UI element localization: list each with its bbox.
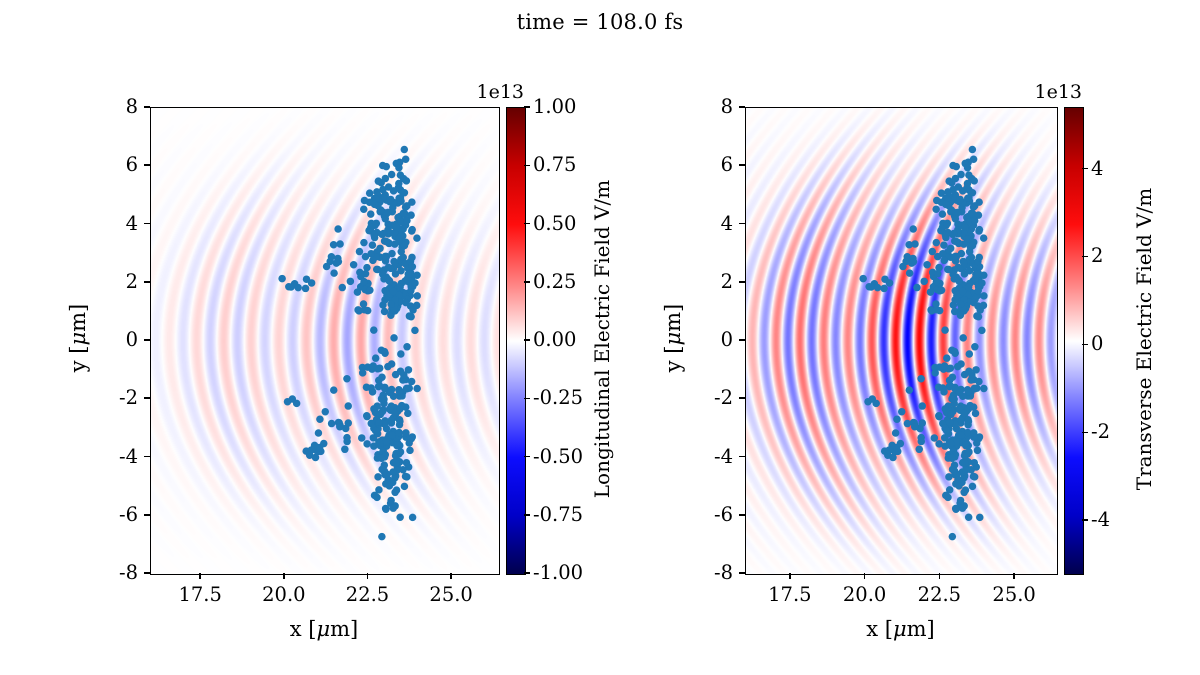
x-tickmark <box>939 573 941 579</box>
x-tickmark <box>1013 573 1015 579</box>
y-tickmark <box>739 397 745 399</box>
x-tickmark <box>367 573 369 579</box>
colorbar-transverse[interactable] <box>1064 107 1084 575</box>
x-tickmark <box>283 573 285 579</box>
y-tickmark <box>739 339 745 341</box>
colorbar-tick-label: -2 <box>1091 420 1110 443</box>
colorbar-tick-label: -1.00 <box>533 561 583 584</box>
y-tick-label: 8 <box>84 95 138 118</box>
x-tick-label: 25.0 <box>406 583 496 606</box>
y-tickmark <box>144 397 150 399</box>
colorbar-label-transverse: Transverse Electric Field V/m <box>1132 106 1156 572</box>
y-tick-label: 6 <box>679 153 733 176</box>
y-tick-label: 4 <box>84 212 138 235</box>
particle-scatter-longitudinal <box>151 108 499 574</box>
y-tick-label: 6 <box>84 153 138 176</box>
colorbar-offset-transverse: 1e13 <box>994 81 1082 103</box>
y-tick-label: 4 <box>679 212 733 235</box>
colorbar-tick-label: 0.25 <box>533 270 576 293</box>
colorbar-offset-longitudinal: 1e13 <box>436 81 524 103</box>
y-tickmark <box>144 572 150 574</box>
x-tick-label: 20.0 <box>239 583 329 606</box>
figure-canvas: time = 108.0 fs 86420-2-4-6-8 17.520.022… <box>0 0 1200 675</box>
colorbar-tick-label: 0.00 <box>533 328 576 351</box>
y-tickmark <box>144 106 150 108</box>
colorbar-tick-label: 0.50 <box>533 212 576 235</box>
colorbar-tick-label: -0.50 <box>533 445 583 468</box>
x-tick-label: 17.5 <box>155 583 245 606</box>
colorbar-tickmark <box>524 165 530 167</box>
x-tick-label: 22.5 <box>323 583 413 606</box>
colorbar-tick-label: 2 <box>1091 244 1103 267</box>
y-tickmark <box>739 514 745 516</box>
x-axis-title: x [μm] <box>150 617 498 641</box>
colorbar-tick-label: 1.00 <box>533 95 576 118</box>
colorbar-tick-label: 0.75 <box>533 153 576 176</box>
colorbar-tickmark <box>524 281 530 283</box>
colorbar-tickmark <box>524 456 530 458</box>
colorbar-tick-label: -4 <box>1091 508 1110 531</box>
y-tickmark <box>739 572 745 574</box>
y-tickmark <box>144 281 150 283</box>
y-tickmark <box>144 514 150 516</box>
y-tick-label: -4 <box>679 445 733 468</box>
y-tickmark <box>144 456 150 458</box>
y-tick-label: -8 <box>84 561 138 584</box>
colorbar-tickmark <box>524 223 530 225</box>
y-tickmark <box>739 223 745 225</box>
y-tick-label: -6 <box>679 503 733 526</box>
colorbar-label-longitudinal: Longitudinal Electric Field V/m <box>590 106 614 572</box>
y-tick-label: 0 <box>84 328 138 351</box>
colorbar-tickmark <box>1082 432 1088 434</box>
colorbar-tickmark <box>524 106 530 108</box>
particle-scatter-transverse <box>746 108 1057 574</box>
colorbar-tickmark <box>524 398 530 400</box>
y-tick-label: 0 <box>679 328 733 351</box>
colorbar-tick-label: -0.25 <box>533 386 583 409</box>
x-tickmark <box>450 573 452 579</box>
y-tickmark <box>144 164 150 166</box>
x-tickmark <box>864 573 866 579</box>
y-tick-label: -6 <box>84 503 138 526</box>
colorbar-gradient-longitudinal <box>507 108 525 574</box>
colorbar-tickmark <box>1082 344 1088 346</box>
axes-transverse[interactable] <box>745 107 1058 575</box>
colorbar-tick-label: 0 <box>1091 332 1103 355</box>
figure-title: time = 108.0 fs <box>0 10 1200 34</box>
y-tickmark <box>144 223 150 225</box>
colorbar-longitudinal[interactable] <box>506 107 526 575</box>
colorbar-tick-label: 4 <box>1091 157 1103 180</box>
x-tickmark <box>199 573 201 579</box>
x-axis-title: x [μm] <box>745 617 1056 641</box>
y-tick-label: 8 <box>679 95 733 118</box>
y-axis-title: y [μm] <box>661 278 685 398</box>
y-tickmark <box>739 164 745 166</box>
y-tickmark <box>144 339 150 341</box>
y-tickmark <box>739 456 745 458</box>
colorbar-tickmark <box>524 339 530 341</box>
colorbar-tickmark <box>524 514 530 516</box>
y-tick-label: 2 <box>84 270 138 293</box>
y-tick-label: -4 <box>84 445 138 468</box>
y-axis-title: y [μm] <box>66 278 90 398</box>
colorbar-tickmark <box>1082 256 1088 258</box>
x-tickmark <box>789 573 791 579</box>
y-tickmark <box>739 281 745 283</box>
y-tick-label: -2 <box>679 386 733 409</box>
colorbar-tick-label: -0.75 <box>533 503 583 526</box>
y-tick-label: -8 <box>679 561 733 584</box>
colorbar-tickmark <box>524 572 530 574</box>
y-tick-label: -2 <box>84 386 138 409</box>
colorbar-tickmark <box>1082 168 1088 170</box>
y-tickmark <box>739 106 745 108</box>
x-tick-label: 25.0 <box>969 583 1059 606</box>
y-tick-label: 2 <box>679 270 733 293</box>
colorbar-gradient-transverse <box>1065 108 1083 574</box>
colorbar-tickmark <box>1082 519 1088 521</box>
axes-longitudinal[interactable] <box>150 107 500 575</box>
